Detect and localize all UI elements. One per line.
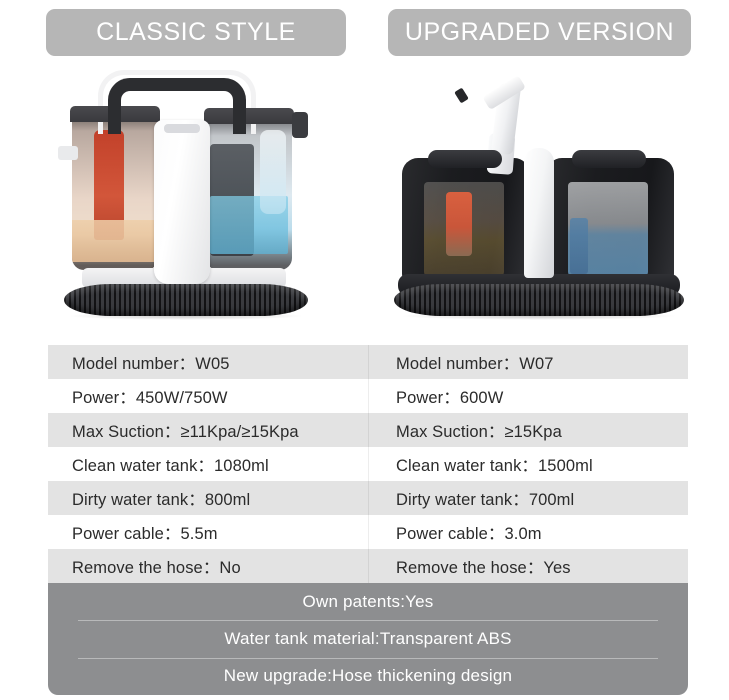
classic-machine-illustration xyxy=(46,62,346,324)
product-image-classic xyxy=(46,62,346,324)
spec-cell-right: Model number：W07 xyxy=(368,345,688,379)
comparison-headers: CLASSIC STYLE UPGRADED VERSION xyxy=(0,9,729,61)
shared-feature-own-patents: Own patents:Yes xyxy=(48,583,688,620)
table-row: Power cable：5.5m Power cable：3.0m xyxy=(48,515,688,549)
spec-cell-right: Dirty water tank：700ml xyxy=(368,481,688,515)
spec-cell-right: Power cable：3.0m xyxy=(368,515,688,549)
table-row: Dirty water tank：800ml Dirty water tank：… xyxy=(48,481,688,515)
clean-tank-cap xyxy=(572,150,646,168)
spec-cell-left: Max Suction：≥11Kpa/≥15Kpa xyxy=(48,413,368,447)
dirty-water-tank xyxy=(72,112,158,270)
dirty-tank-window xyxy=(424,182,504,276)
hose-clip-icon xyxy=(292,112,308,138)
table-row: Max Suction：≥11Kpa/≥15Kpa Max Suction：≥1… xyxy=(48,413,688,447)
table-row: Remove the hose：No Remove the hose：Yes xyxy=(48,549,688,583)
table-row: Model number：W05 Model number：W07 xyxy=(48,345,688,379)
ribbed-hose xyxy=(394,284,684,316)
spec-cell-left: Clean water tank：1080ml xyxy=(48,447,368,481)
carry-handle-icon xyxy=(524,148,554,278)
spec-cell-left: Model number：W05 xyxy=(48,345,368,379)
shared-feature-new-upgrade: New upgrade:Hose thickening design xyxy=(48,658,688,695)
ribbed-hose xyxy=(64,284,308,316)
spec-cell-right: Power：600W xyxy=(368,379,688,413)
product-image-upgraded xyxy=(388,62,691,324)
product-image-stage xyxy=(0,62,729,324)
clean-tank-window xyxy=(260,130,286,214)
header-badge-upgraded: UPGRADED VERSION xyxy=(388,9,691,56)
table-row: Power：450W/750W Power：600W xyxy=(48,379,688,413)
spec-cell-right: Clean water tank：1500ml xyxy=(368,447,688,481)
machine-body xyxy=(154,120,210,284)
table-row: Clean water tank：1080ml Clean water tank… xyxy=(48,447,688,481)
spray-wand-tip-icon xyxy=(454,88,469,104)
spec-comparison-table: Model number：W05 Model number：W07 Power：… xyxy=(48,345,688,583)
clean-tank-window xyxy=(568,182,648,276)
spec-cell-left: Power cable：5.5m xyxy=(48,515,368,549)
spec-cell-left: Dirty water tank：800ml xyxy=(48,481,368,515)
spec-cell-right: Remove the hose：Yes xyxy=(368,549,688,583)
dirty-tank-cap xyxy=(428,150,502,168)
spec-cell-left: Power：450W/750W xyxy=(48,379,368,413)
spec-cell-right: Max Suction：≥15Kpa xyxy=(368,413,688,447)
shared-feature-water-tank-material: Water tank material:Transparent ABS xyxy=(48,620,688,657)
upgraded-machine-illustration xyxy=(388,62,691,324)
spec-cell-left: Remove the hose：No xyxy=(48,549,368,583)
machine-body-vent xyxy=(164,124,200,133)
shared-features-panel: Own patents:Yes Water tank material:Tran… xyxy=(48,583,688,695)
tank-nozzle-icon xyxy=(58,146,78,160)
header-badge-classic: CLASSIC STYLE xyxy=(46,9,346,56)
